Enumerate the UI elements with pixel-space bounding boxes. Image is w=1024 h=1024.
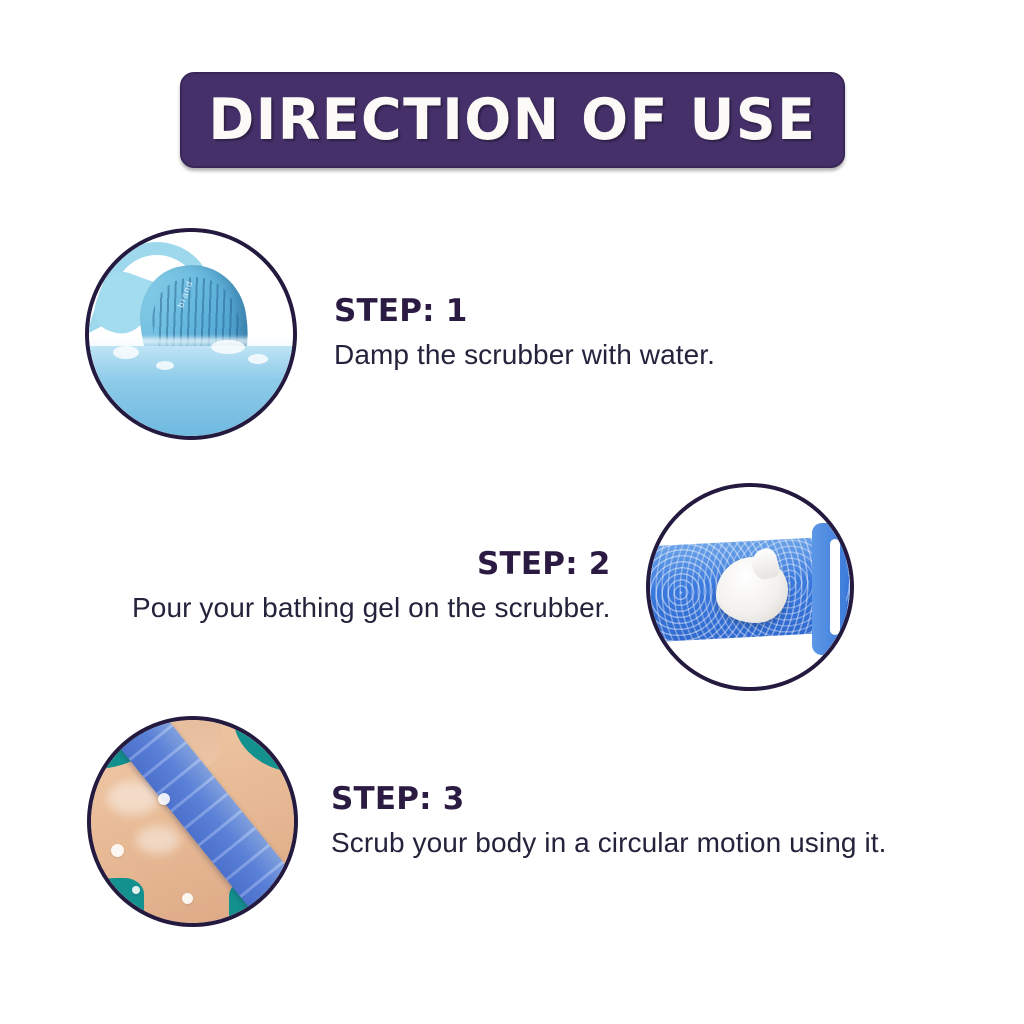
step-1-description: Damp the scrubber with water. bbox=[334, 337, 715, 373]
scrubber-in-water-illustration: brand bbox=[89, 232, 293, 436]
soap-bubble-icon bbox=[158, 793, 170, 805]
teal-corner-backdrop bbox=[233, 720, 294, 773]
step-2-text-block: STEP: 2 Pour your bathing gel on the scr… bbox=[132, 547, 611, 626]
soap-bubble-icon bbox=[111, 844, 124, 857]
teal-corner-backdrop bbox=[91, 878, 144, 923]
step-3-description: Scrub your body in a circular motion usi… bbox=[331, 825, 887, 861]
soap-bubble-icon bbox=[182, 893, 193, 904]
step-1-image: brand bbox=[85, 228, 297, 440]
step-row-2: STEP: 2 Pour your bathing gel on the scr… bbox=[132, 483, 854, 691]
step-2-image bbox=[646, 483, 854, 691]
step-1-text-block: STEP: 1 Damp the scrubber with water. bbox=[334, 294, 715, 373]
soap-smear bbox=[136, 826, 180, 854]
step-2-label: STEP: 2 bbox=[477, 547, 611, 583]
body-scrubbing-illustration bbox=[91, 720, 294, 923]
step-1-label: STEP: 1 bbox=[334, 294, 468, 330]
step-2-description: Pour your bathing gel on the scrubber. bbox=[132, 590, 611, 626]
scrubber-handle-hole bbox=[830, 539, 840, 635]
step-row-1: brand STEP: 1 Damp the scrubber with wat… bbox=[85, 228, 715, 440]
step-3-image bbox=[87, 716, 298, 927]
scrubber-with-gel-illustration bbox=[650, 487, 850, 687]
step-3-label: STEP: 3 bbox=[331, 782, 465, 818]
step-row-3: STEP: 3 Scrub your body in a circular mo… bbox=[87, 716, 887, 927]
water-splash-icon bbox=[156, 361, 174, 370]
step-3-text-block: STEP: 3 Scrub your body in a circular mo… bbox=[331, 782, 887, 861]
page-title: DIRECTION OF USE bbox=[208, 92, 816, 149]
scrubber-handle-bar-icon bbox=[812, 523, 846, 655]
direction-of-use-banner: DIRECTION OF USE bbox=[180, 72, 845, 168]
